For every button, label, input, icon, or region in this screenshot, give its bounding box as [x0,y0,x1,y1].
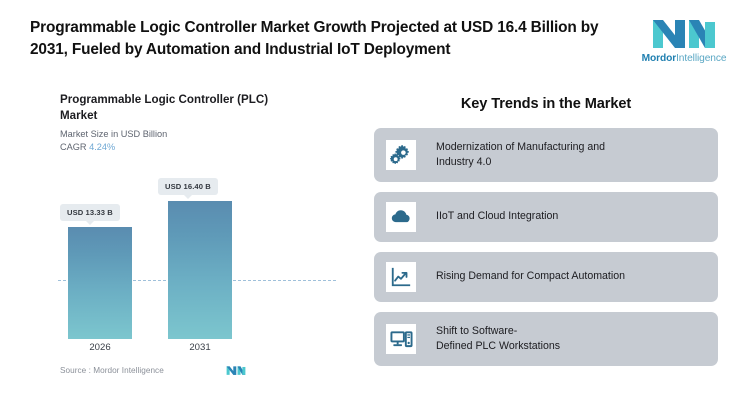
chart-cagr: CAGR 4.24% [60,142,360,152]
brand-logo: MordorIntelligence [636,14,732,64]
key-trends-panel: Key Trends in the Market Modernization o… [374,96,718,376]
brand-wordmark: MordorIntelligence [642,53,727,64]
x-axis-tick-2026: 2026 [68,342,132,353]
source-mordor-mark-icon [226,364,246,376]
x-axis-labels: 2026 2031 [40,342,360,358]
gears-icon [386,140,416,170]
line-chart-up-icon [386,262,416,292]
chart-source-label: Source : Mordor Intelligence [60,366,164,375]
mordor-intelligence-mark-icon [651,14,717,50]
trend-card-software-defined-plc[interactable]: Shift to Software- Defined PLC Workstati… [374,312,718,366]
trend-card-compact-automation[interactable]: Rising Demand for Compact Automation [374,252,718,302]
trend-card-iiot-cloud[interactable]: IIoT and Cloud Integration [374,192,718,242]
key-trends-title: Key Trends in the Market [374,96,718,112]
bar-2031 [168,201,232,339]
chart-subtitle: Market Size in USD Billion [60,129,360,139]
data-label-2026: USD 13.33 B [60,204,120,221]
trend-label: Rising Demand for Compact Automation [436,269,718,284]
x-axis-tick-2031: 2031 [168,342,232,353]
cagr-label: CAGR [60,142,87,152]
chart-title: Programmable Logic Controller (PLC) Mark… [60,92,275,123]
chart-source-row: Source : Mordor Intelligence [60,364,348,376]
data-label-2031: USD 16.40 B [158,178,218,195]
brand-word-light: Intelligence [676,53,726,64]
cagr-value: 4.24% [89,142,115,152]
page-title: Programmable Logic Controller Market Gro… [30,17,636,61]
infographic-page: Programmable Logic Controller Market Gro… [0,0,750,411]
cloud-icon [386,202,416,232]
trend-label: IIoT and Cloud Integration [436,209,718,224]
trend-label: Modernization of Manufacturing and Indus… [436,140,718,171]
bar-2026 [68,227,132,339]
brand-word-bold: Mordor [642,53,676,64]
trend-label: Shift to Software- Defined PLC Workstati… [436,324,718,355]
bar-chart-plot-area: USD 13.33 B USD 16.40 B [40,154,360,339]
trend-card-modernization[interactable]: Modernization of Manufacturing and Indus… [374,128,718,182]
desktop-computer-icon [386,324,416,354]
market-size-chart-panel: Programmable Logic Controller (PLC) Mark… [40,92,360,382]
page-header: Programmable Logic Controller Market Gro… [0,0,750,78]
